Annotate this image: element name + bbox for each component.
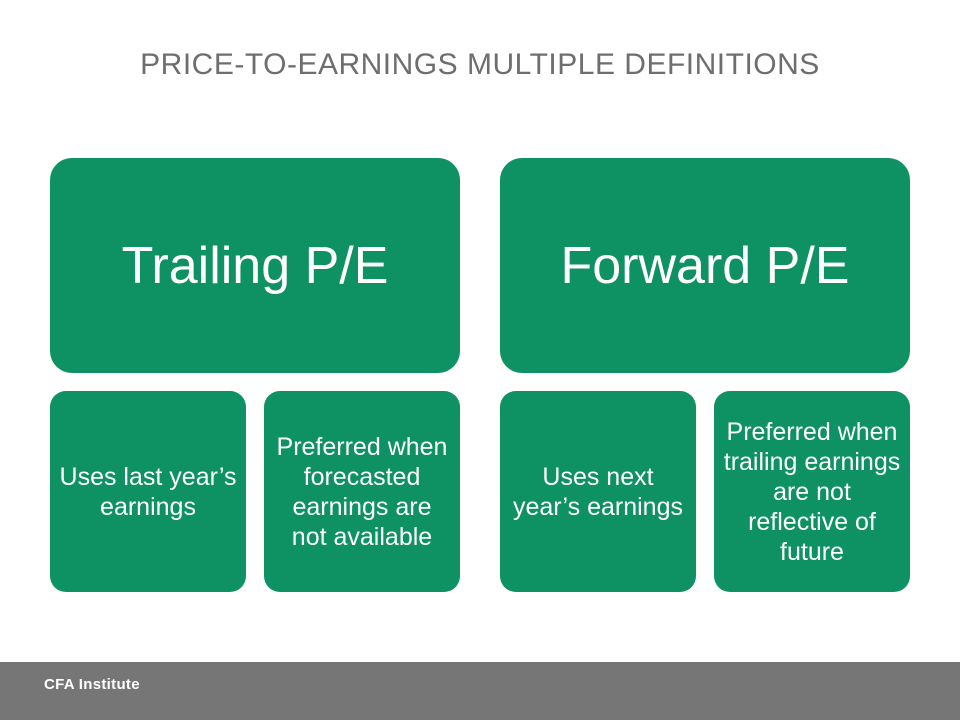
parent-node-forward[interactable]: Forward P/E bbox=[500, 158, 910, 373]
child-node-trailing-2[interactable]: Preferred when forecasted earnings are n… bbox=[264, 391, 460, 592]
page-title: PRICE-TO-EARNINGS MULTIPLE DEFINITIONS bbox=[80, 44, 880, 86]
diagram-smartart: Trailing P/E Uses last year’s earnings P… bbox=[0, 150, 960, 610]
slide: PRICE-TO-EARNINGS MULTIPLE DEFINITIONS T… bbox=[0, 0, 960, 720]
parent-node-label: Forward P/E bbox=[549, 237, 862, 295]
cfa-institute-logo: CFA Institute bbox=[44, 676, 140, 693]
child-node-label: Preferred when trailing earnings are not… bbox=[714, 417, 910, 567]
child-node-forward-2[interactable]: Preferred when trailing earnings are not… bbox=[714, 391, 910, 592]
child-node-trailing-1[interactable]: Uses last year’s earnings bbox=[50, 391, 246, 592]
child-node-forward-1[interactable]: Uses next year’s earnings bbox=[500, 391, 696, 592]
child-node-label: Preferred when forecasted earnings are n… bbox=[264, 432, 460, 552]
child-node-label: Uses next year’s earnings bbox=[500, 462, 696, 522]
parent-node-trailing[interactable]: Trailing P/E bbox=[50, 158, 460, 373]
footer-bar: CFA Institute bbox=[0, 662, 960, 720]
child-node-label: Uses last year’s earnings bbox=[50, 462, 246, 522]
parent-node-label: Trailing P/E bbox=[110, 237, 401, 295]
